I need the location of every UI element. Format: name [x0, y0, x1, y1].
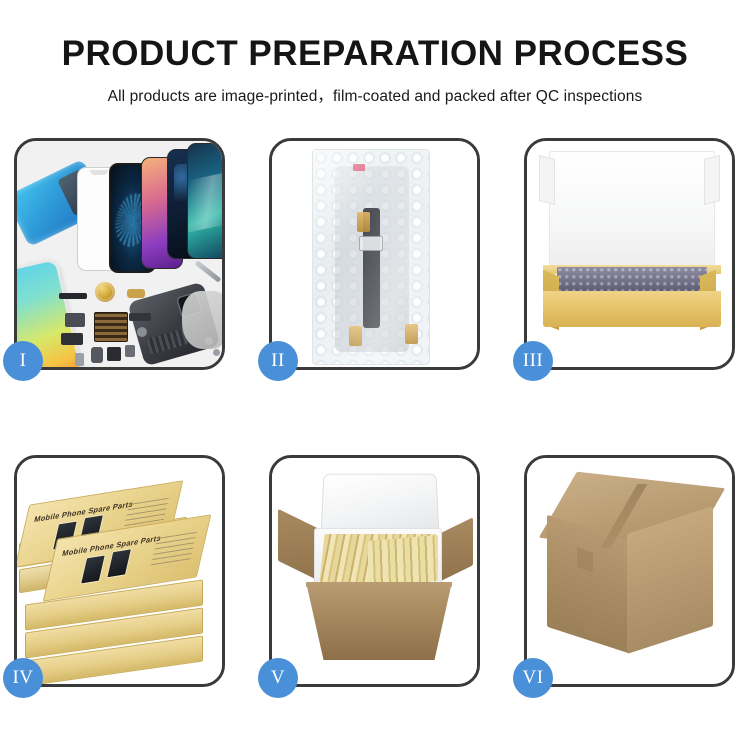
step-badge-4: IV [3, 658, 43, 698]
spare-part-graphic [137, 327, 147, 337]
product-preparation-page: PRODUCT PREPARATION PROCESS All products… [0, 0, 750, 750]
spare-part-graphic [59, 293, 87, 299]
spare-part-graphic [127, 289, 145, 298]
step-badge-1: I [3, 341, 43, 381]
step-4-image: Mobile Phone Spare Parts Mobile Phone Sp… [17, 458, 222, 684]
box-front-panel-graphic [543, 291, 721, 327]
process-step-panel-2[interactable]: II [269, 138, 480, 370]
process-step-panel-6[interactable]: VI [524, 455, 735, 687]
box-artwork-thumbnail [106, 548, 132, 578]
bubble-wrap-package-graphic [312, 149, 430, 365]
step-badge-5: V [258, 658, 298, 698]
spare-part-graphic [91, 347, 103, 363]
connector-chip-graphic [359, 236, 383, 251]
step-6-image [527, 458, 732, 684]
process-step-panel-5[interactable]: V [269, 455, 480, 687]
gold-contact-graphic [405, 324, 418, 344]
step-badge-2: II [258, 341, 298, 381]
process-step-grid: I II [14, 138, 736, 687]
spare-part-graphic [65, 313, 85, 327]
box-artwork-thumbnail [80, 554, 106, 584]
box-lid-graphic [549, 151, 715, 273]
page-subtitle: All products are image-printed，film-coat… [0, 84, 750, 106]
step-2-image [272, 141, 477, 367]
spare-part-graphic [125, 345, 135, 357]
gold-contact-graphic [349, 326, 362, 346]
carton-body-graphic [306, 582, 452, 660]
spare-part-graphic [75, 353, 84, 366]
tweezer-graphic [195, 260, 222, 282]
packed-boxes-graphic [368, 535, 438, 587]
gold-coil-part-graphic [95, 282, 115, 302]
box-stack-graphic: Mobile Phone Spare Parts Mobile Phone Sp… [19, 472, 222, 680]
pink-label-graphic [353, 164, 365, 171]
spare-part-graphic [129, 313, 151, 321]
page-title: PRODUCT PREPARATION PROCESS [0, 36, 750, 73]
box-flap-right-graphic [704, 155, 720, 205]
step-1-image [17, 141, 222, 367]
process-step-panel-3[interactable]: III [524, 138, 735, 370]
step-badge-6: VI [513, 658, 553, 698]
step-badge-3: III [513, 341, 553, 381]
spare-part-graphic [61, 333, 83, 345]
screw-graphic [213, 349, 220, 356]
foam-lid-graphic [320, 474, 439, 536]
teal-phone-graphic [187, 143, 222, 259]
header: PRODUCT PREPARATION PROCESS All products… [0, 0, 750, 106]
chip-grid-part-graphic [94, 312, 128, 342]
step-5-image [272, 458, 477, 684]
gold-contact-graphic [357, 212, 370, 232]
process-step-panel-4[interactable]: Mobile Phone Spare Parts Mobile Phone Sp… [14, 455, 225, 687]
hand-graphic [182, 291, 222, 349]
box-text-lines-graphic [150, 532, 197, 570]
spare-part-graphic [107, 347, 121, 361]
step-3-image [527, 141, 732, 367]
process-step-panel-1[interactable]: I [14, 138, 225, 370]
box-flap-left-graphic [539, 155, 555, 205]
